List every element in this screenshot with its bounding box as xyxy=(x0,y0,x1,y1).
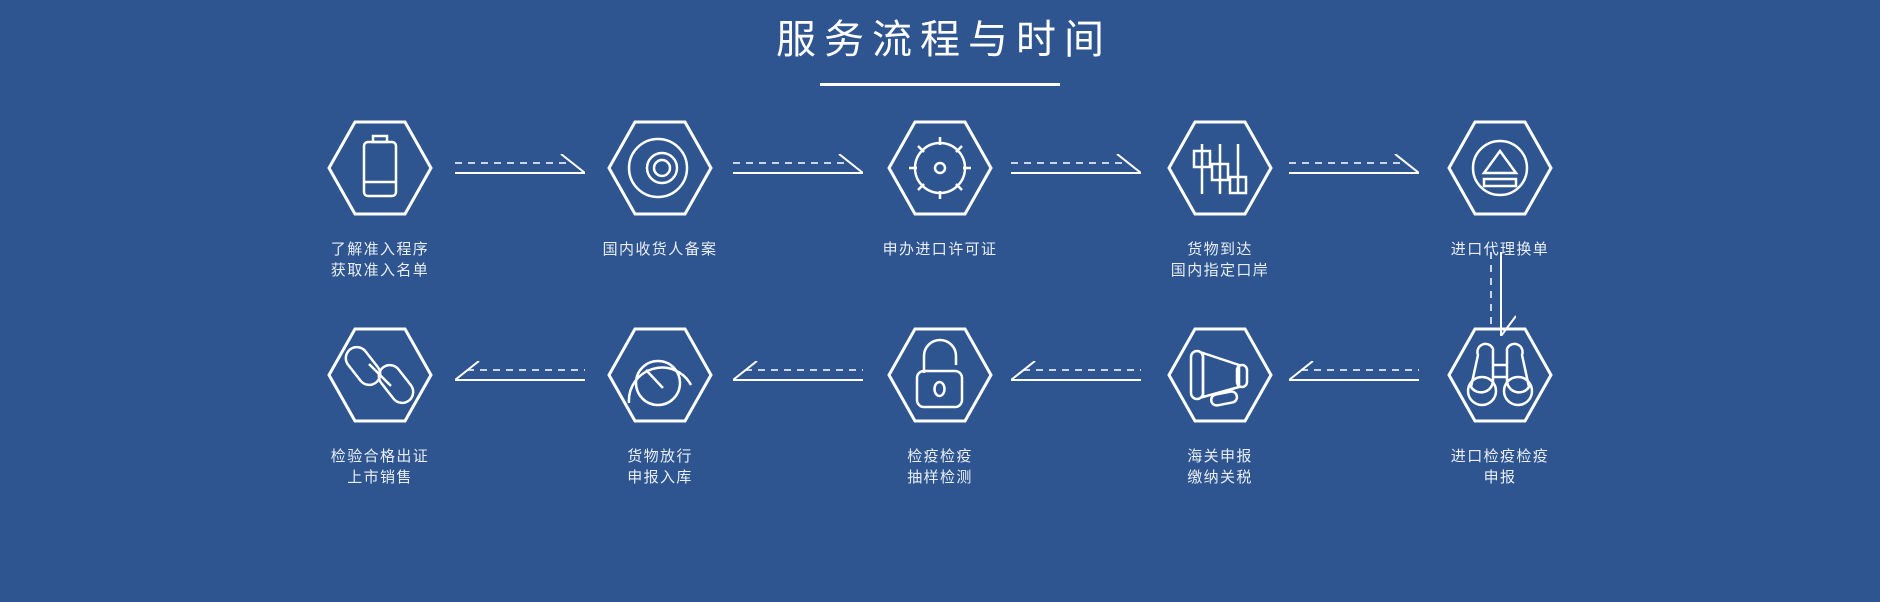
flow-step-10-label: 检验合格出证 上市销售 xyxy=(331,446,429,488)
flow-step-6[interactable]: 进口检疫检疫 申报 xyxy=(1360,325,1640,488)
eject-circle-icon xyxy=(1445,118,1555,218)
flow-step-8-label: 检疫检疫 抽样检测 xyxy=(907,446,973,488)
chain-link-icon xyxy=(325,325,435,425)
flow-step-1[interactable]: 了解准入程序 获取准入名单 xyxy=(240,118,520,281)
padlock-icon xyxy=(885,325,995,425)
flow-step-7-label: 海关申报 缴纳关税 xyxy=(1187,446,1253,488)
flow-step-10[interactable]: 检验合格出证 上市销售 xyxy=(240,325,520,488)
sliders-icon xyxy=(1165,118,1275,218)
flow-step-9[interactable]: 货物放行 申报入库 xyxy=(520,325,800,488)
flow-row-1: 了解准入程序 获取准入名单 国内收货人备案 xyxy=(0,118,1880,328)
flow-step-3[interactable]: 申办进口许可证 xyxy=(800,118,1080,260)
flow-step-2[interactable]: 国内收货人备案 xyxy=(520,118,800,260)
flow-step-4-label: 货物到达 国内指定口岸 xyxy=(1171,239,1269,281)
flow-step-3-label: 申办进口许可证 xyxy=(883,239,998,260)
gauge-icon xyxy=(605,325,715,425)
flow-step-5-label: 进口代理换单 xyxy=(1451,239,1549,260)
flow-step-4[interactable]: 货物到达 国内指定口岸 xyxy=(1080,118,1360,281)
compass-dial-icon xyxy=(885,118,995,218)
binoculars-icon xyxy=(1445,325,1555,425)
flow-step-5[interactable]: 进口代理换单 xyxy=(1360,118,1640,260)
flow-row-2: 检验合格出证 上市销售 货物放行 申报入库 xyxy=(0,325,1880,535)
flow-step-2-label: 国内收货人备案 xyxy=(603,239,718,260)
target-rings-icon xyxy=(605,118,715,218)
flow-step-9-label: 货物放行 申报入库 xyxy=(627,446,693,488)
flow-step-7[interactable]: 海关申报 缴纳关税 xyxy=(1080,325,1360,488)
flow-step-6-label: 进口检疫检疫 申报 xyxy=(1451,446,1549,488)
megaphone-icon xyxy=(1165,325,1275,425)
service-process-flow-diagram: 了解准入程序 获取准入名单 国内收货人备案 xyxy=(0,0,1880,602)
battery-icon xyxy=(325,118,435,218)
flow-step-8[interactable]: 检疫检疫 抽样检测 xyxy=(800,325,1080,488)
flow-step-1-label: 了解准入程序 获取准入名单 xyxy=(331,239,429,281)
